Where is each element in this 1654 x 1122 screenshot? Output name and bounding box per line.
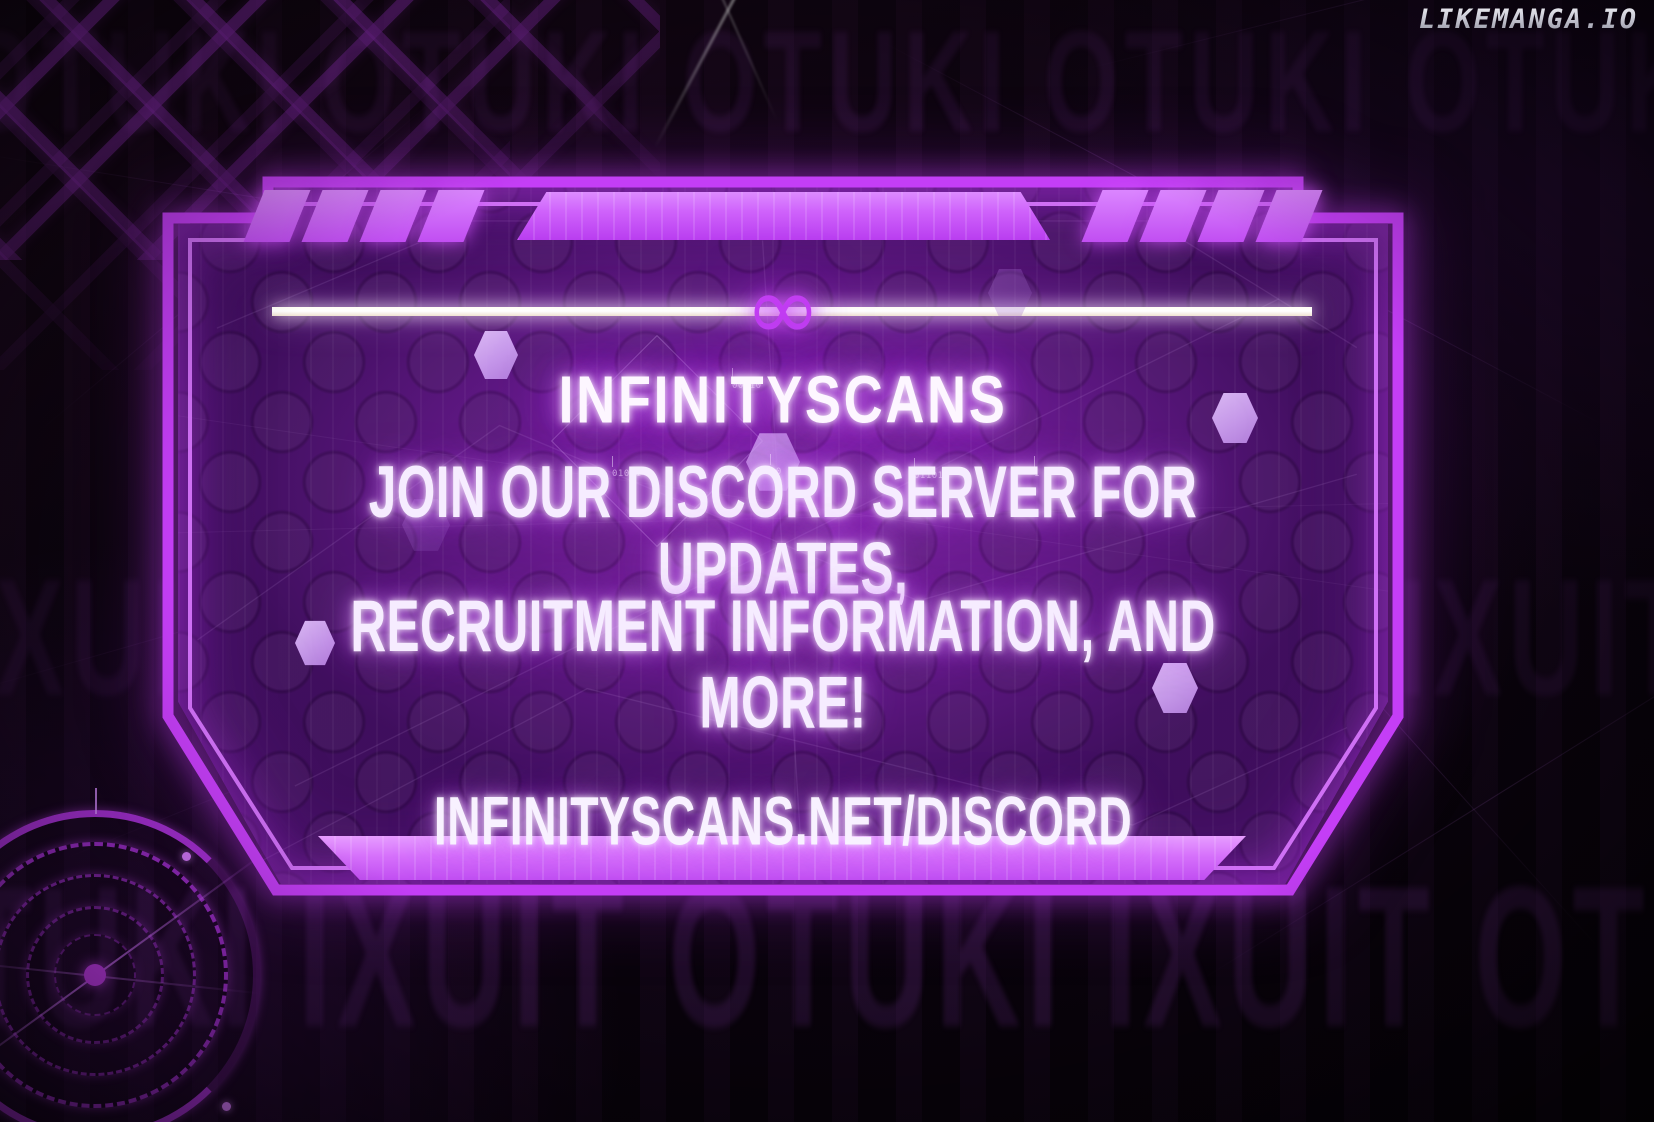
hud-frame-panel: ∞ 00010 01011 10 1 011010 1 0 INFINITYSC… [162,168,1404,902]
site-watermark: LIKEMANGA.IO [1419,4,1638,35]
panel-content: INFINITYSCANS JOIN OUR DISCORD SERVER FO… [162,364,1404,855]
slash-bar [243,190,310,242]
slash-bar [1139,190,1206,242]
slash-bar [1197,190,1264,242]
promo-banner: OTUKI OTUKI OTUKI OTUKI OTUKI OTUKI IXUI… [0,0,1654,1122]
slash-bar [359,190,426,242]
bar-stripe-texture [517,192,1050,240]
corner-slash-decoration-left [254,190,474,242]
tagline-line-1: JOIN OUR DISCORD SERVER FOR UPDATES, [286,454,1280,608]
slash-bar [301,190,368,242]
brand-title: INFINITYSCANS [249,362,1317,438]
slash-bar [1081,190,1148,242]
infinity-icon: ∞ [745,276,822,342]
top-accent-bar [517,192,1050,240]
corner-slash-decoration-right [1092,190,1312,242]
discord-url[interactable]: INFINITYSCANS.NET/DISCORD [286,782,1280,861]
tagline-line-2: RECRUITMENT INFORMATION, AND MORE! [286,588,1280,742]
